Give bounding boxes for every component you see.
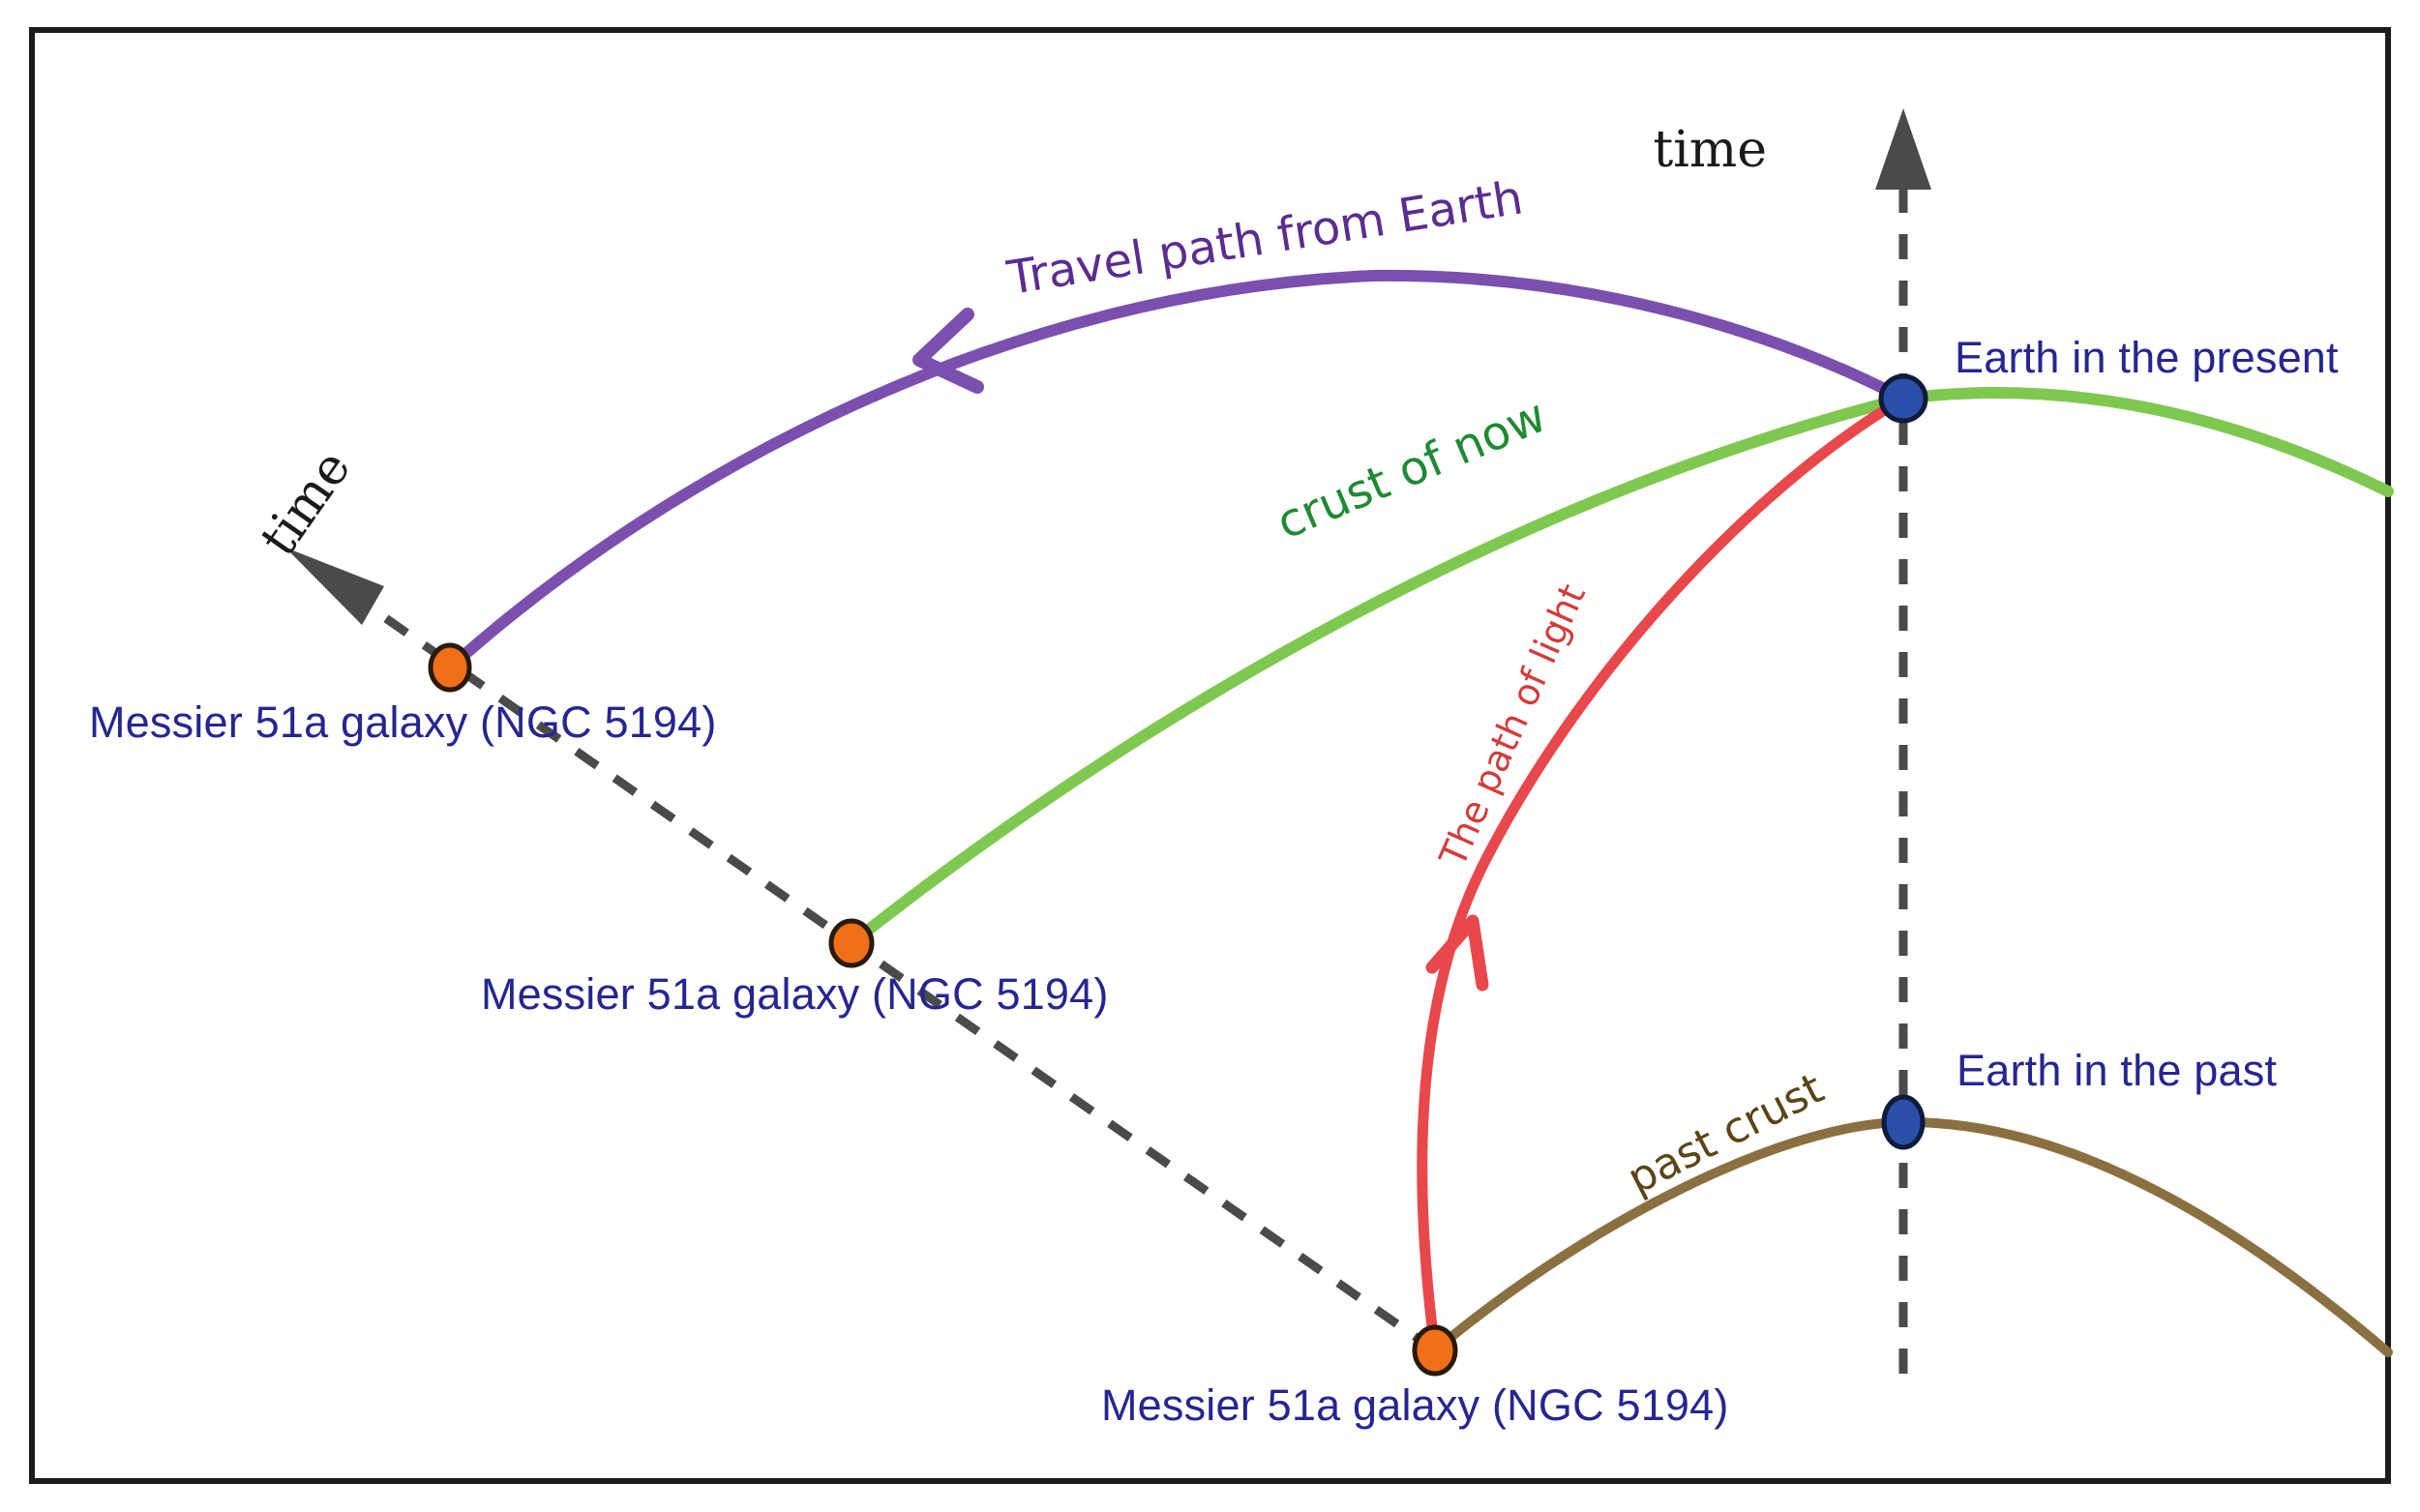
earth-past-label: Earth in the past xyxy=(1957,1046,2277,1095)
earth-present-dot[interactable] xyxy=(1881,376,1926,421)
galaxy-lower-dot[interactable] xyxy=(1415,1327,1455,1374)
galaxy-upper-dot[interactable] xyxy=(431,645,469,690)
vertical-time-axis-arrowhead xyxy=(1875,108,1931,190)
diagonal-time-axis-label: time xyxy=(250,440,363,567)
past-crust-curve xyxy=(1435,1122,2388,1352)
earth-present-label: Earth in the present xyxy=(1955,333,2339,382)
spacetime-diagram: time time Travel path from Earth crust o… xyxy=(0,0,2420,1512)
vertical-time-axis-label: time xyxy=(1653,121,1767,179)
diagram-canvas: time time Travel path from Earth crust o… xyxy=(0,0,2420,1512)
earth-past-dot[interactable] xyxy=(1884,1097,1923,1147)
galaxy-lower-label: Messier 51a galaxy (NGC 5194) xyxy=(1101,1380,1729,1430)
crust-of-now-label: crust of now xyxy=(1269,389,1554,550)
galaxy-middle-dot[interactable] xyxy=(831,921,872,965)
past-crust-label: past crust xyxy=(1620,1064,1832,1204)
galaxy-upper-label: Messier 51a galaxy (NGC 5194) xyxy=(89,697,717,747)
diagonal-time-axis-line xyxy=(326,577,1435,1350)
crust-of-now-curve xyxy=(851,393,2388,943)
galaxy-middle-label: Messier 51a galaxy (NGC 5194) xyxy=(481,969,1109,1019)
